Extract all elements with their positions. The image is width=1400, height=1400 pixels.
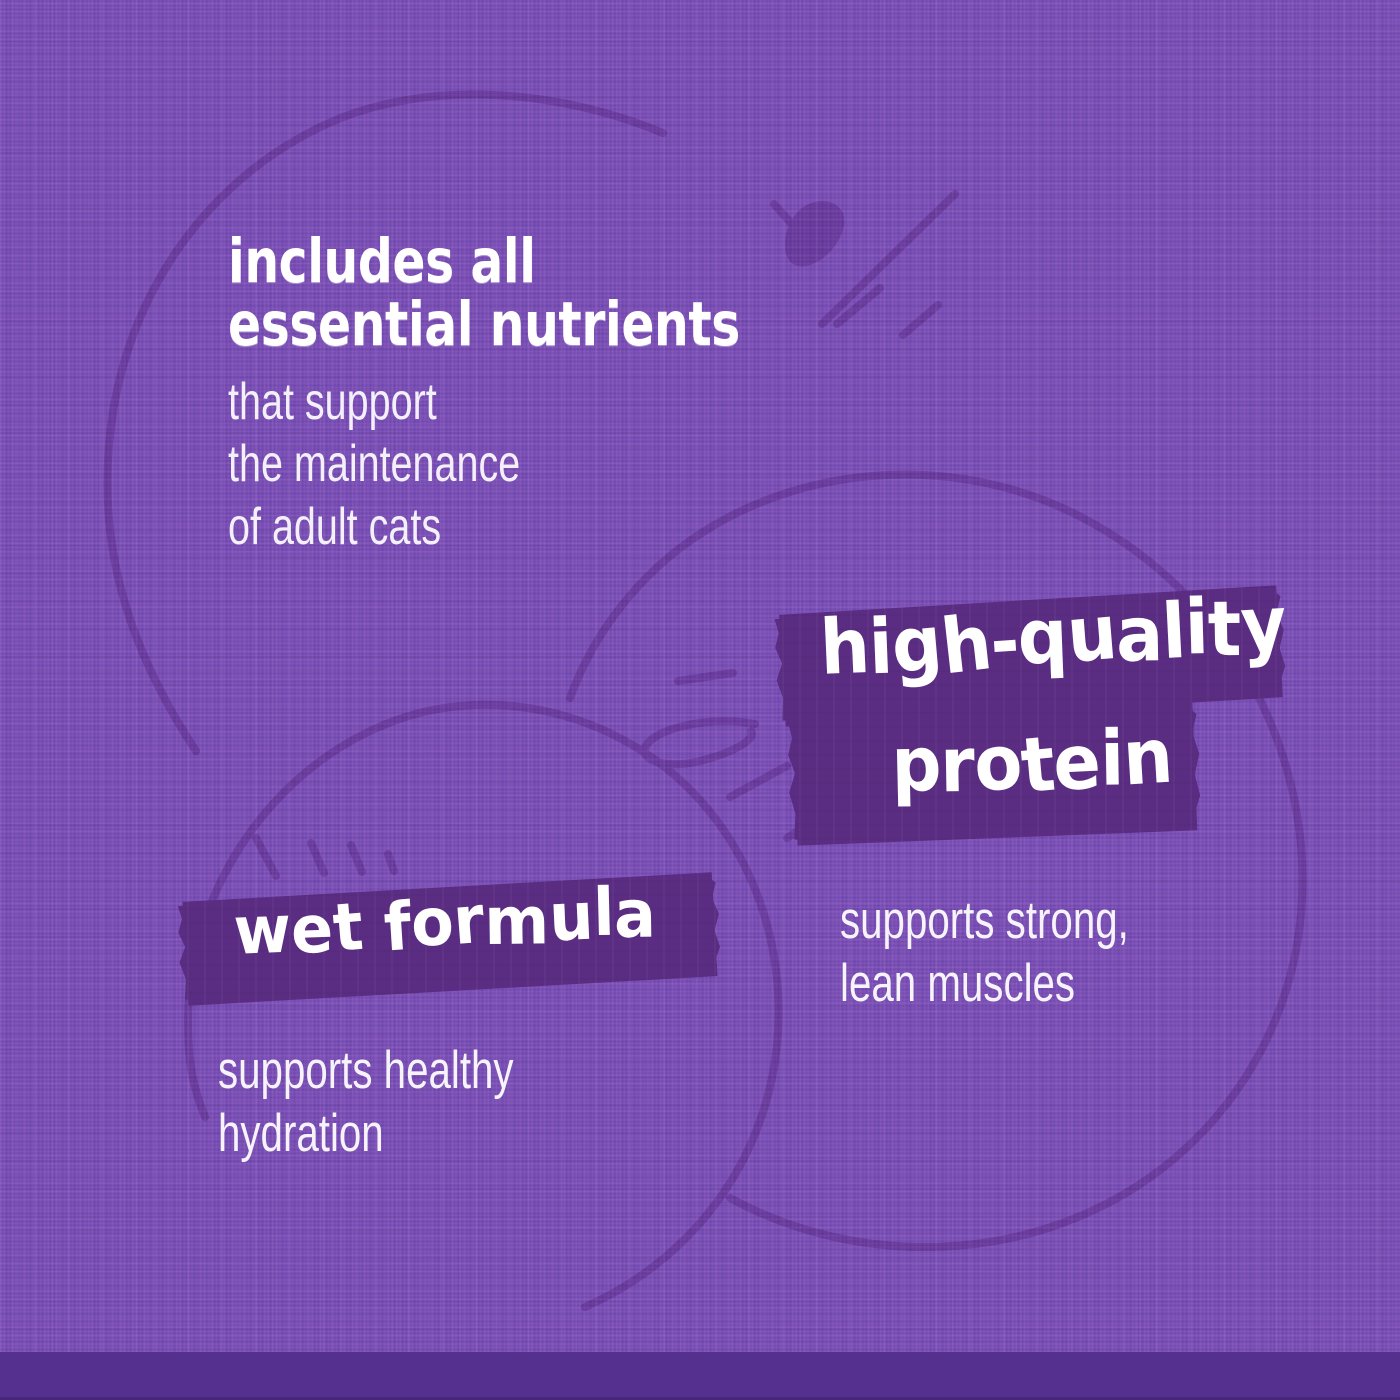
wet-formula-body-line-1: supports healthy	[218, 1040, 514, 1103]
protein-badge-label-line-2-text: protein	[890, 719, 1173, 806]
circle-bottom-left	[188, 705, 779, 1307]
nutrients-body-line-1: that support	[228, 371, 714, 433]
sparkle-wet-formula	[256, 838, 394, 876]
footer-bar	[0, 1352, 1400, 1400]
protein-body-line-1: supports strong,	[840, 890, 1129, 953]
protein-body-line-2: lean muscles	[840, 953, 1129, 1016]
nutrients-body-line-2: the maintenance	[228, 433, 714, 495]
nutrients-text-block: includes all essential nutrients that su…	[228, 230, 868, 558]
protein-badge-label-line-2: protein	[890, 719, 1173, 806]
nutrients-headline-line-1: includes all	[228, 230, 740, 293]
nutrients-body-line-3: of adult cats	[228, 496, 714, 558]
poster-canvas: .ink { fill:none; stroke:#6b3d9e; stroke…	[0, 0, 1400, 1400]
wet-formula-body-line-2: hydration	[218, 1103, 514, 1166]
wet-formula-badge-label: wet formula	[232, 878, 658, 968]
nutrients-headline-line-2: essential nutrients	[228, 293, 740, 356]
wet-formula-badge-label-text: wet formula	[232, 878, 658, 968]
wet-formula-text-block: supports healthy hydration	[218, 1040, 607, 1165]
protein-text-block: supports strong, lean muscles	[840, 890, 1220, 1015]
